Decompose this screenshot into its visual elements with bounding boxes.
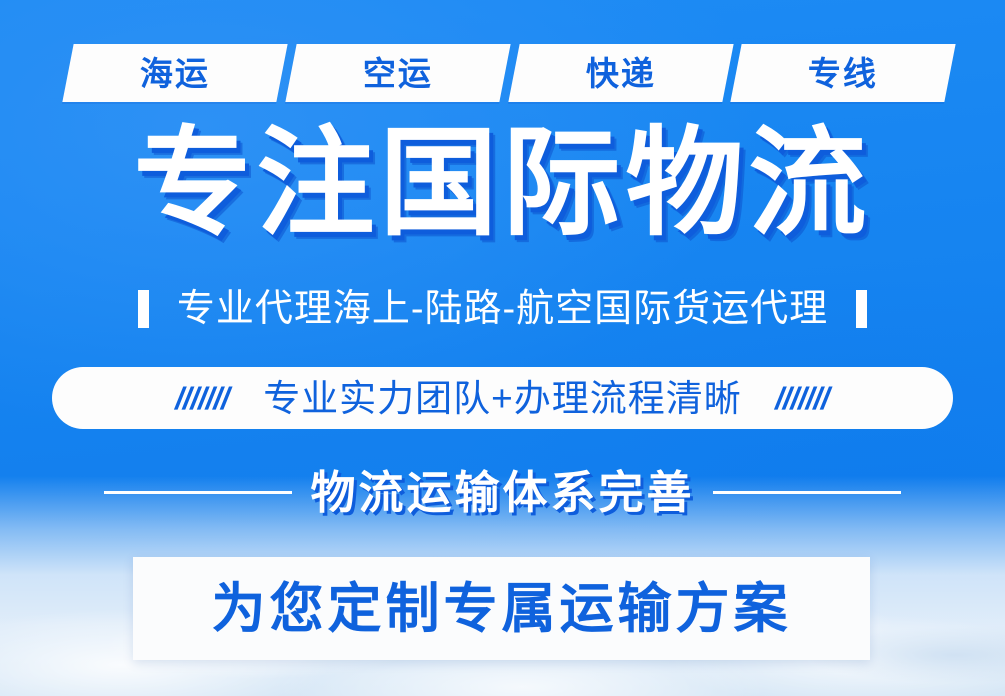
rule-line-left [104, 491, 292, 494]
tab-sea-freight[interactable]: 海运 [62, 44, 287, 102]
tab-dedicated-line[interactable]: 专线 [731, 44, 956, 102]
feature-pill-text: 专业实力团队+办理流程清晰 [263, 380, 742, 417]
subtitle-text: 专业代理海上-陆路-航空国际货运代理 [177, 290, 828, 328]
left-slashes-icon: /////// [173, 383, 233, 414]
tab-express[interactable]: 快递 [508, 44, 733, 102]
cta-box[interactable]: 为您定制专属运输方案 [133, 557, 870, 660]
feature-pill: /////// 专业实力团队+办理流程清晰 /////// [52, 367, 953, 429]
service-tabs: 海运 空运 快递 专线 [68, 44, 950, 102]
rule-line-right [713, 491, 901, 494]
highlight-row: 物流运输体系完善 [0, 462, 1005, 522]
tab-label: 空运 [363, 57, 433, 90]
headline-title: 专注国际物流 [0, 118, 1005, 250]
subtitle-row: 专业代理海上-陆路-航空国际货运代理 [0, 287, 1005, 331]
tab-label: 海运 [140, 57, 210, 90]
highlight-text: 物流运输体系完善 [310, 470, 694, 515]
subtitle-right-bar-icon [856, 290, 867, 328]
tab-label: 专线 [808, 57, 878, 90]
right-slashes-icon: /////// [773, 383, 833, 414]
tab-air-freight[interactable]: 空运 [285, 44, 510, 102]
subtitle-left-bar-icon [138, 290, 149, 328]
promo-banner: 海运 空运 快递 专线 专注国际物流 专业代理海上-陆路-航空国际货运代理 //… [0, 0, 1005, 696]
cta-text: 为您定制专属运输方案 [212, 582, 792, 636]
tab-label: 快递 [585, 57, 655, 90]
